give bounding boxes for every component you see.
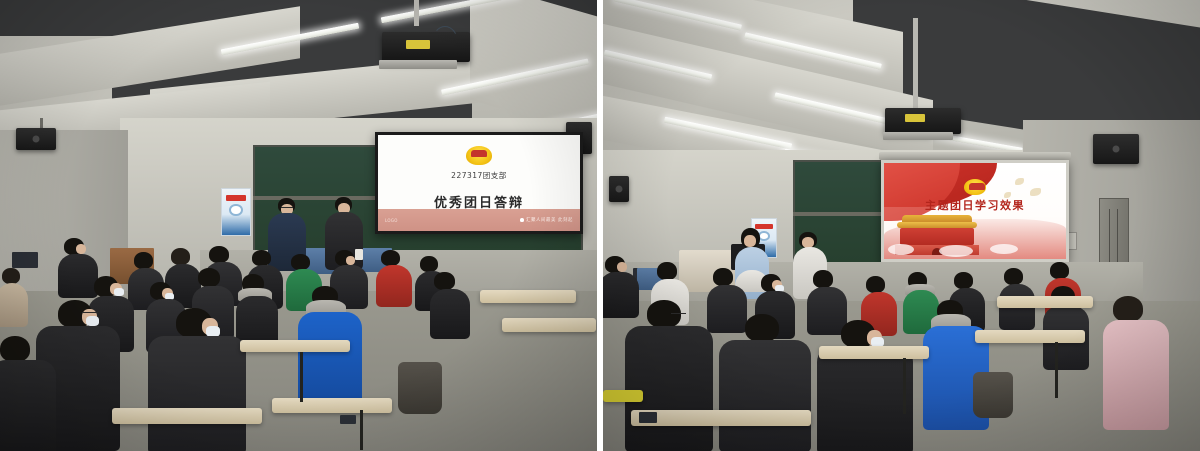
poster-headline bbox=[226, 195, 246, 201]
phone-on-desk bbox=[639, 412, 657, 423]
student-desk bbox=[112, 408, 262, 424]
slide-footer-right: 汇聚人间最美 此刻起 bbox=[520, 217, 573, 223]
decor-cloud bbox=[939, 245, 973, 257]
left-room: 227317团支部 优秀团日答辩 LOGO 汇聚人间最美 此刻起 bbox=[0, 0, 597, 451]
decor-cloud bbox=[990, 244, 1018, 254]
face-mask bbox=[114, 288, 124, 296]
student-desk bbox=[480, 290, 576, 303]
safety-poster bbox=[221, 188, 251, 236]
desk-leg bbox=[1055, 342, 1058, 398]
desk-leg bbox=[903, 358, 906, 414]
slide-optimal-league-day: 227317团支部 优秀团日答辩 LOGO 汇聚人间最美 此刻起 bbox=[378, 135, 580, 231]
slide-theme-league-day-results: 主题团日学习效果 bbox=[884, 163, 1066, 259]
poster-graphic bbox=[229, 204, 242, 216]
right-classroom-photo: 主题团日学习效果 bbox=[603, 0, 1200, 451]
wall-speaker bbox=[609, 176, 629, 202]
projector-mount-tray bbox=[883, 132, 953, 140]
projection-screen: 227317团支部 优秀团日答辩 LOGO 汇聚人间最美 此刻起 bbox=[378, 135, 580, 231]
footer-emblem-icon bbox=[520, 218, 524, 222]
presenter-notes bbox=[355, 249, 363, 260]
desk-leg bbox=[360, 410, 363, 450]
notebook-on-desk bbox=[603, 390, 643, 402]
student-desk bbox=[502, 318, 596, 332]
desk-leg bbox=[300, 352, 303, 402]
student-desk bbox=[240, 340, 350, 352]
projector-display bbox=[905, 114, 925, 122]
projection-screen: 主题团日学习效果 bbox=[884, 163, 1066, 259]
projector-rod bbox=[414, 0, 419, 26]
right-room: 主题团日学习效果 bbox=[603, 0, 1200, 451]
wall-speaker bbox=[16, 128, 56, 150]
poster-headline bbox=[755, 224, 772, 229]
glasses-icon bbox=[281, 207, 293, 209]
student-desk bbox=[631, 410, 811, 426]
photo-pair: 227317团支部 优秀团日答辩 LOGO 汇聚人间最美 此刻起 bbox=[0, 0, 1200, 451]
decor-petal bbox=[1015, 178, 1024, 185]
face-mask bbox=[86, 316, 99, 326]
communist-youth-league-emblem-icon bbox=[964, 179, 986, 196]
slide-footer-left: LOGO bbox=[385, 218, 398, 223]
slide-title: 主题团日学习效果 bbox=[925, 197, 1025, 213]
roll-up-screen-housing bbox=[879, 152, 1071, 160]
slide-footer-right-text: 汇聚人间最美 此刻起 bbox=[526, 217, 573, 223]
decor-petal bbox=[1030, 188, 1041, 196]
student-desk bbox=[819, 346, 929, 359]
projection-screen-frame: 227317团支部 优秀团日答辩 LOGO 汇聚人间最美 此刻起 bbox=[375, 132, 583, 234]
projector-rod bbox=[913, 18, 918, 108]
laptop bbox=[12, 252, 38, 268]
glasses-icon bbox=[82, 312, 98, 314]
student-desk bbox=[975, 330, 1085, 343]
slide-subtitle: 227317团支部 bbox=[451, 170, 507, 181]
decor-cloud bbox=[888, 244, 914, 255]
projector-display bbox=[406, 40, 430, 49]
projector-mount-tray bbox=[379, 60, 457, 69]
wall-speaker bbox=[1093, 134, 1139, 164]
slide-footer: LOGO 汇聚人间最美 此刻起 bbox=[378, 209, 580, 231]
phone-on-desk bbox=[340, 415, 356, 424]
communist-youth-league-emblem-icon bbox=[466, 146, 492, 166]
student-desk bbox=[272, 398, 392, 413]
camo-backpack bbox=[398, 362, 442, 414]
backpack bbox=[973, 372, 1013, 418]
presenter-face bbox=[744, 235, 756, 247]
projection-screen-frame: 主题团日学习效果 bbox=[881, 160, 1069, 262]
glasses-icon bbox=[671, 313, 686, 315]
student-desk bbox=[997, 296, 1093, 308]
left-classroom-photo: 227317团支部 优秀团日答辩 LOGO 汇聚人间最美 此刻起 bbox=[0, 0, 597, 451]
